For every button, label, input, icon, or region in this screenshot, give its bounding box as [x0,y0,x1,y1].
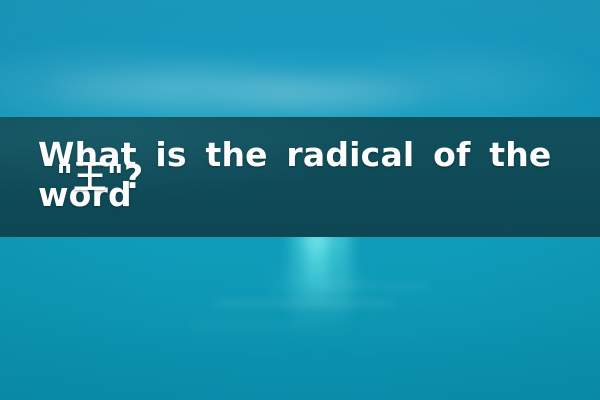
caption-line-2: "王"? [38,157,566,197]
screenshot-canvas: What is the radical of the word "王"? [0,0,600,400]
caption-banner: What is the radical of the word "王"? [0,117,600,237]
caption-line-2-wrap: "王"? [0,157,600,197]
